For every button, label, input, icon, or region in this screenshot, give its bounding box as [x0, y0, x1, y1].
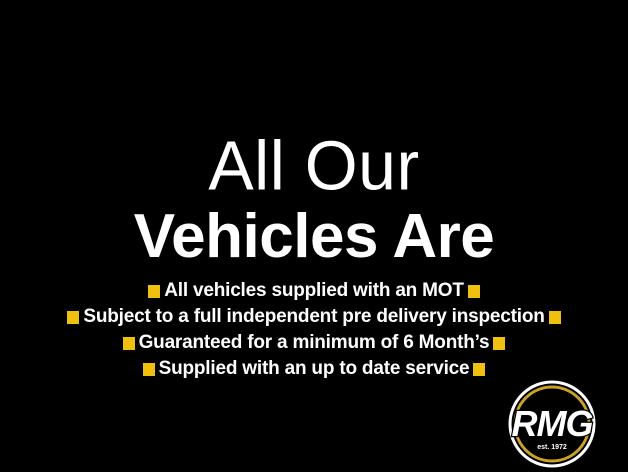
feature-label: Supplied with an up to date service: [155, 358, 474, 380]
logo-wordmark: RMG: [512, 403, 593, 444]
headline-line-2: Vehicles Are: [0, 204, 628, 270]
bullet-square-icon: [493, 337, 505, 350]
feature-item: All vehicles supplied with an MOT: [0, 278, 628, 304]
bullet-square-icon: [148, 285, 160, 298]
bullet-square-icon: [143, 363, 155, 376]
feature-label: All vehicles supplied with an MOT: [160, 280, 468, 302]
bullet-square-icon: [473, 363, 485, 376]
feature-list: All vehicles supplied with an MOT Subjec…: [0, 278, 628, 382]
headline: All Our Vehicles Are: [0, 130, 628, 270]
promo-banner: All Our Vehicles Are All vehicles suppli…: [0, 0, 628, 472]
bullet-square-icon: [123, 337, 135, 350]
feature-item: Guaranteed for a minimum of 6 Month’s: [0, 330, 628, 356]
bullet-square-icon: [67, 311, 79, 324]
logo-established-text: est. 1972: [537, 444, 567, 451]
headline-line-1: All Our: [0, 129, 628, 202]
rmg-logo: RMG est. 1972: [496, 378, 608, 470]
bullet-square-icon: [468, 285, 480, 298]
feature-label: Guaranteed for a minimum of 6 Month’s: [135, 332, 494, 354]
feature-label: Subject to a full independent pre delive…: [79, 306, 548, 328]
feature-item: Subject to a full independent pre delive…: [0, 304, 628, 330]
bullet-square-icon: [549, 311, 561, 324]
